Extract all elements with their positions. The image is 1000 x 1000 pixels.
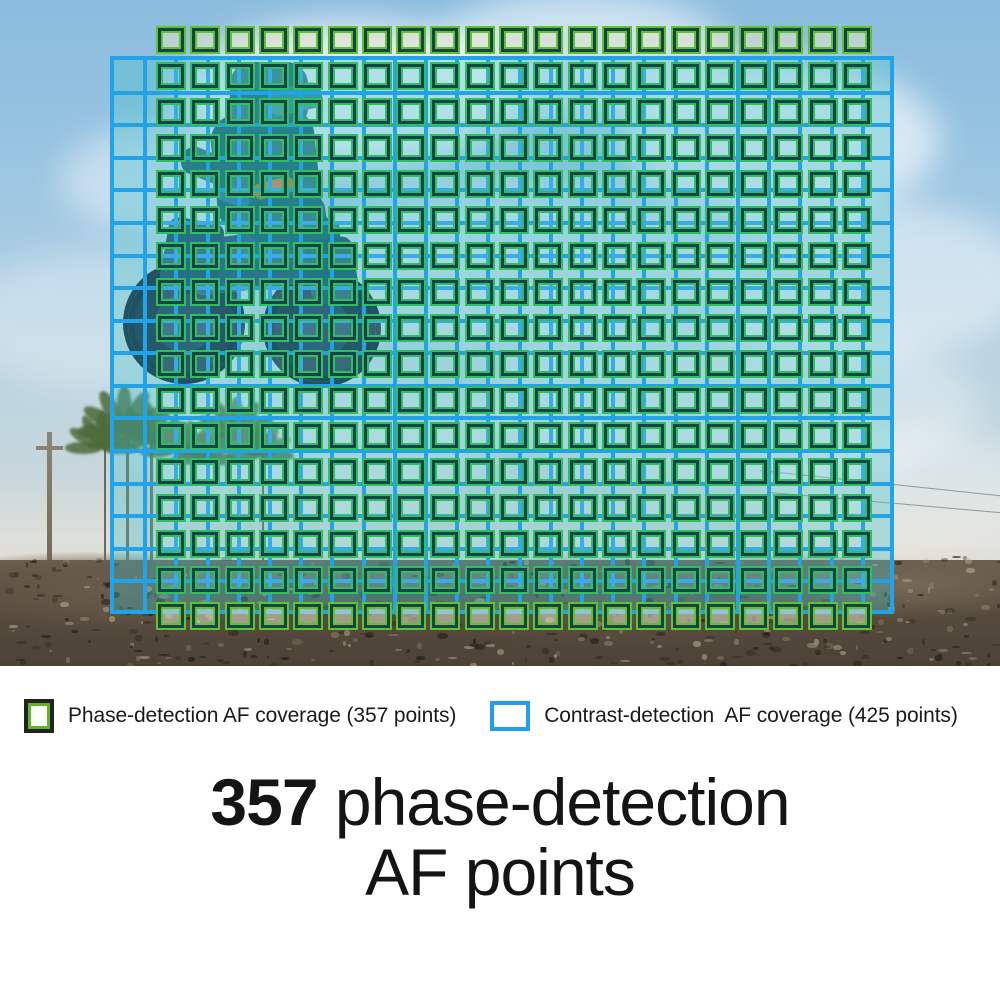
af-point [295,388,321,412]
dirt-speck [395,649,402,651]
dirt-speck [66,657,70,663]
dirt-speck [894,575,898,580]
af-point [432,496,458,520]
af-point [535,460,561,484]
af-point [844,568,870,592]
dirt-speck [961,652,972,654]
af-point [467,568,493,592]
square-outline-blue-icon [490,701,530,731]
af-point [535,424,561,448]
dirt-speck [549,657,554,663]
af-point [638,460,664,484]
af-point [604,280,630,304]
af-point [501,100,527,124]
af-point [741,172,767,196]
af-point [501,64,527,88]
af-point [810,496,836,520]
af-point [364,568,390,592]
af-point [398,136,424,160]
af-point [398,280,424,304]
dirt-speck [244,648,252,651]
af-point [364,316,390,340]
af-point [330,136,356,160]
af-point [467,316,493,340]
af-point [467,460,493,484]
af-point [741,604,767,628]
dirt-speck [80,617,89,621]
af-point [192,100,218,124]
dirt-speck [188,657,195,662]
dirt-speck [109,616,115,622]
af-point [844,280,870,304]
dirt-speck [41,635,51,638]
af-point [192,316,218,340]
dirt-speck [676,648,679,651]
af-point [673,424,699,448]
dirt-speck [33,598,39,600]
af-point [432,604,458,628]
af-point [810,460,836,484]
dirt-speck [989,588,994,591]
headline-line-1: 357 phase-detection [210,768,789,838]
dirt-speck [902,604,905,608]
dirt-speck [497,649,504,655]
dirt-speck [870,625,875,629]
af-point [535,352,561,376]
af-point [501,280,527,304]
af-point [638,100,664,124]
af-point [295,280,321,304]
af-point [261,496,287,520]
af-point [638,172,664,196]
dirt-speck [9,572,17,578]
af-point [501,568,527,592]
af-point [364,244,390,268]
af-point [398,496,424,520]
af-point [741,208,767,232]
af-point [570,604,596,628]
af-point [158,532,184,556]
af-point [261,316,287,340]
dirt-speck [88,640,91,643]
af-point [775,352,801,376]
af-point [844,316,870,340]
dirt-speck [833,645,842,650]
af-point [741,388,767,412]
af-point [432,28,458,52]
af-point [535,388,561,412]
af-point [432,64,458,88]
af-point [741,100,767,124]
af-point [330,604,356,628]
dirt-speck [134,650,143,652]
dirt-speck [610,662,618,664]
af-point [158,388,184,412]
dirt-speck [907,648,915,654]
af-point [741,64,767,88]
af-point [775,64,801,88]
dirt-speck [947,626,953,632]
dirt-speck [895,561,902,565]
dirt-speck [987,653,990,658]
af-point [295,460,321,484]
af-point [844,244,870,268]
af-point [330,280,356,304]
af-point [775,316,801,340]
af-point [330,532,356,556]
af-point [192,208,218,232]
dirt-speck [157,662,161,664]
dirt-speck [693,641,701,647]
af-point [330,460,356,484]
square-outline-green-icon [24,699,54,733]
af-point [295,64,321,88]
af-point [604,532,630,556]
af-point [501,388,527,412]
af-point [604,172,630,196]
dirt-speck [935,655,942,661]
af-point [741,28,767,52]
af-point [604,424,630,448]
dirt-speck [807,643,818,648]
dirt-speck [141,614,152,616]
af-point [192,172,218,196]
af-point [158,316,184,340]
af-point [364,28,390,52]
af-point [844,388,870,412]
dirt-speck [702,654,707,660]
af-point [775,460,801,484]
af-point [535,136,561,160]
af-point [741,532,767,556]
af-point [261,352,287,376]
af-point [810,568,836,592]
af-point [673,244,699,268]
af-point [467,352,493,376]
af-point [227,28,253,52]
dirt-speck [947,610,952,614]
headline-line-2: AF points [365,838,635,908]
af-point [330,100,356,124]
dirt-speck [414,660,421,663]
af-point [604,136,630,160]
af-point [844,604,870,628]
dirt-speck [435,658,440,661]
af-point [467,424,493,448]
af-point [295,244,321,268]
af-point [192,604,218,628]
af-point [295,496,321,520]
af-point [227,352,253,376]
af-point [501,208,527,232]
af-point [775,172,801,196]
af-point [227,64,253,88]
af-point [638,532,664,556]
af-point [261,100,287,124]
dirt-speck [53,595,63,597]
af-point [570,316,596,340]
af-point [638,28,664,52]
af-point [673,460,699,484]
af-point [570,424,596,448]
af-point [261,28,287,52]
dirt-speck [974,594,979,597]
dirt-speck [24,585,30,588]
af-point [261,208,287,232]
af-point [604,316,630,340]
af-point [638,424,664,448]
af-point [604,604,630,628]
af-point [364,172,390,196]
dirt-speck [87,576,92,578]
af-point [570,172,596,196]
af-point [261,460,287,484]
af-point [467,208,493,232]
af-point [501,136,527,160]
af-point [570,64,596,88]
af-point [364,424,390,448]
af-point [844,172,870,196]
af-point [741,424,767,448]
af-point [227,568,253,592]
dirt-speck [677,660,684,664]
af-point [398,460,424,484]
af-point [432,100,458,124]
af-point [227,388,253,412]
legend-label-phase-detection: Phase-detection AF coverage (357 points) [68,704,456,728]
af-point [707,424,733,448]
dirt-speck [876,631,883,633]
af-point [707,136,733,160]
af-point [467,280,493,304]
af-point [432,172,458,196]
dirt-speck [732,656,742,658]
af-point [192,280,218,304]
af-point [192,136,218,160]
dirt-speck [969,657,977,660]
af-point [501,28,527,52]
dirt-speck [91,629,101,631]
dirt-speck [952,646,960,648]
af-point [227,136,253,160]
af-point [261,424,287,448]
af-point [227,244,253,268]
af-point [261,136,287,160]
af-point [158,460,184,484]
af-point [398,388,424,412]
dirt-speck [348,644,351,647]
dirt-speck [243,651,247,657]
af-point [364,496,390,520]
af-point [707,64,733,88]
af-point [707,568,733,592]
af-point [192,388,218,412]
af-point [775,100,801,124]
af-point [398,28,424,52]
dirt-speck [65,618,69,621]
af-point [844,100,870,124]
af-coverage-photo [0,0,1000,666]
dirt-speck [908,589,913,593]
af-point [673,388,699,412]
af-point [261,604,287,628]
dirt-speck [222,661,230,664]
dirt-speck [554,654,557,658]
af-point [158,172,184,196]
af-point [432,136,458,160]
af-point [638,568,664,592]
af-point [364,460,390,484]
af-point [432,244,458,268]
af-point [570,388,596,412]
af-point [673,568,699,592]
af-point [604,244,630,268]
dirt-speck [52,567,56,572]
af-point [638,280,664,304]
af-point [158,64,184,88]
af-point [810,64,836,88]
af-point [741,460,767,484]
af-point [570,100,596,124]
af-point [604,64,630,88]
af-point [810,388,836,412]
af-point [844,208,870,232]
af-point [227,424,253,448]
dirt-speck [9,625,18,628]
af-point [673,100,699,124]
af-point [227,532,253,556]
af-point [741,136,767,160]
af-point [775,496,801,520]
af-point [810,28,836,52]
af-point [844,136,870,160]
af-point [570,208,596,232]
dirt-speck [965,617,976,621]
af-point [330,64,356,88]
af-point [227,604,253,628]
af-point [398,316,424,340]
af-point [261,388,287,412]
af-point [467,64,493,88]
dirt-speck [251,655,257,658]
dirt-speck [860,631,870,634]
dirt-speck [5,588,14,594]
af-point [775,388,801,412]
af-point [604,460,630,484]
af-point [638,208,664,232]
af-point [810,424,836,448]
af-point [844,424,870,448]
af-point [535,100,561,124]
af-point [844,64,870,88]
dirt-speck [992,644,1000,646]
dirt-speck [931,649,936,651]
af-point [741,496,767,520]
dirt-speck [992,580,997,586]
af-point [364,532,390,556]
af-point [158,100,184,124]
af-point [810,136,836,160]
af-point [775,244,801,268]
dirt-speck [861,655,869,659]
af-point [604,208,630,232]
legend-item-contrast-detection: Contrast-detection AF coverage (425 poin… [490,701,958,731]
af-point [604,100,630,124]
dirt-speck [159,654,169,656]
af-point [398,64,424,88]
af-point [673,316,699,340]
af-point [467,532,493,556]
af-point [227,460,253,484]
af-point [398,604,424,628]
af-point [535,532,561,556]
dirt-speck [746,650,755,656]
dirt-speck [406,649,410,653]
af-point [638,496,664,520]
af-point [398,568,424,592]
af-point [295,208,321,232]
af-point [158,28,184,52]
af-point [295,424,321,448]
af-point [810,532,836,556]
af-point [295,172,321,196]
af-point [810,244,836,268]
af-point [844,352,870,376]
headline: 357 phase-detection AF points [0,768,1000,968]
af-point [570,460,596,484]
af-point [775,424,801,448]
af-point [570,280,596,304]
af-point [775,532,801,556]
af-point [638,388,664,412]
af-point [707,244,733,268]
af-point [535,244,561,268]
af-point [570,352,596,376]
utility-pole-crossbar [36,446,63,450]
af-point [295,532,321,556]
af-point [707,316,733,340]
dirt-speck [448,657,457,659]
af-point [432,280,458,304]
dirt-speck [922,639,925,645]
dirt-speck [16,641,27,644]
af-point [775,568,801,592]
af-point [501,604,527,628]
dirt-speck [667,662,675,665]
af-point [707,208,733,232]
dirt-speck [139,656,150,659]
dirt-speck [37,594,45,597]
dirt-speck [878,619,884,625]
dirt-speck [620,660,630,662]
af-point [192,532,218,556]
dirt-speck [199,656,206,658]
af-point [467,244,493,268]
af-point [570,568,596,592]
af-point [330,388,356,412]
af-point [707,532,733,556]
af-point [535,28,561,52]
af-point [227,496,253,520]
dirt-speck [186,645,191,651]
dirt-speck [824,645,830,648]
af-point [227,172,253,196]
af-point [398,244,424,268]
af-point [467,388,493,412]
af-point [501,496,527,520]
af-point [810,352,836,376]
dirt-speck [286,648,292,650]
